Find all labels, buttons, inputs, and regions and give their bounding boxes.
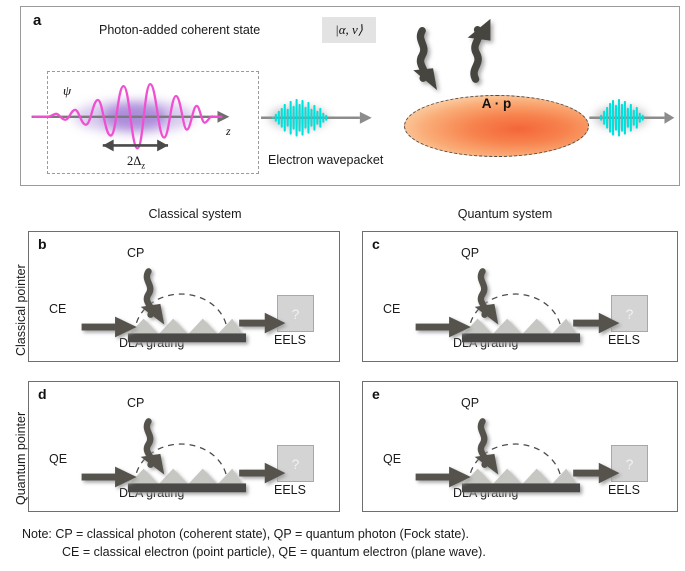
panel-c-electron-arrow-out — [573, 313, 619, 334]
panel-a-graphics — [21, 7, 679, 185]
incoming-beam-arrowhead — [360, 112, 372, 124]
panel-d-grating — [128, 469, 246, 493]
incoming-photon-arrow — [413, 31, 437, 90]
note-line-2: CE = classical electron (point particle)… — [22, 544, 672, 562]
column-header-quantum: Quantum system — [360, 207, 650, 221]
panel-b-grating — [128, 319, 246, 343]
panel-d: d CP QE DLA grating ? EELS — [28, 381, 340, 512]
panel-d-electron-arrow-out — [239, 463, 285, 484]
panel-d-graphics — [29, 382, 339, 511]
row-label-quantum-pointer: Quantum pointer — [14, 412, 28, 505]
figure-note: Note: CP = classical photon (coherent st… — [22, 526, 672, 562]
panel-e: e QP QE DLA grating ? EELS — [362, 381, 678, 512]
panel-a: a Photon-added coherent state |α, ν⟩ ψ z… — [20, 6, 680, 186]
width-arrow-left — [103, 140, 114, 152]
panel-c: c QP CE DLA grating ? EELS — [362, 231, 678, 362]
panel-e-electron-arrow-out — [573, 463, 619, 484]
note-line-1: Note: CP = classical photon (coherent st… — [22, 527, 469, 541]
width-arrow-right — [157, 140, 168, 152]
panel-b-electron-arrow-out — [239, 313, 285, 334]
row-label-classical-pointer: Classical pointer — [14, 264, 28, 356]
incoming-electron-wavepacket — [273, 100, 326, 136]
outgoing-electron-wavepacket — [601, 100, 643, 136]
panel-b-graphics — [29, 232, 339, 361]
outgoing-photon-arrow — [468, 19, 491, 79]
panel-c-graphics — [363, 232, 677, 361]
panel-e-grating — [462, 469, 580, 493]
figure-root: a Photon-added coherent state |α, ν⟩ ψ z… — [0, 0, 685, 571]
panel-b: b CP CE DLA grating ? EELS — [28, 231, 340, 362]
panel-c-grating — [462, 319, 580, 343]
outgoing-beam-arrowhead — [664, 112, 674, 124]
panel-e-graphics — [363, 382, 677, 511]
column-header-classical: Classical system — [50, 207, 340, 221]
